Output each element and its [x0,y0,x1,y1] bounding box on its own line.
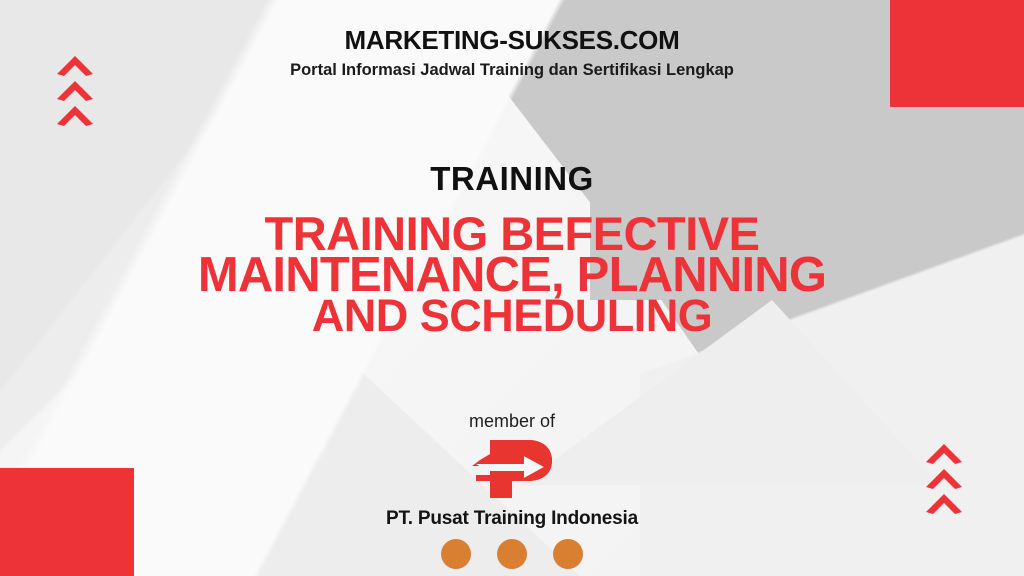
p-arrow-logo-icon [466,438,558,500]
site-tagline: Portal Informasi Jadwal Training dan Ser… [0,61,1024,79]
eyebrow-label: TRAINING [0,160,1024,198]
site-title: MARKETING-SUKSES.COM [0,26,1024,55]
dot-indicator [497,539,527,569]
title-line-3: AND SCHEDULING [120,297,904,336]
dot-row [0,539,1024,569]
member-of-label: member of [0,412,1024,432]
dot-indicator [553,539,583,569]
company-name: PT. Pusat Training Indonesia [0,508,1024,530]
member-logo-block: member of PT. Pusat Training Indonesia [0,412,1024,569]
chevron-up-icon [56,80,94,102]
dot-indicator [441,539,471,569]
page-title: TRAINING BEFECTIVE MAINTENANCE, PLANNING… [120,214,904,335]
chevron-up-icon [56,105,94,127]
training-banner: MARKETING-SUKSES.COM Portal Informasi Ja… [0,0,1024,576]
banner-header: MARKETING-SUKSES.COM Portal Informasi Ja… [0,26,1024,79]
